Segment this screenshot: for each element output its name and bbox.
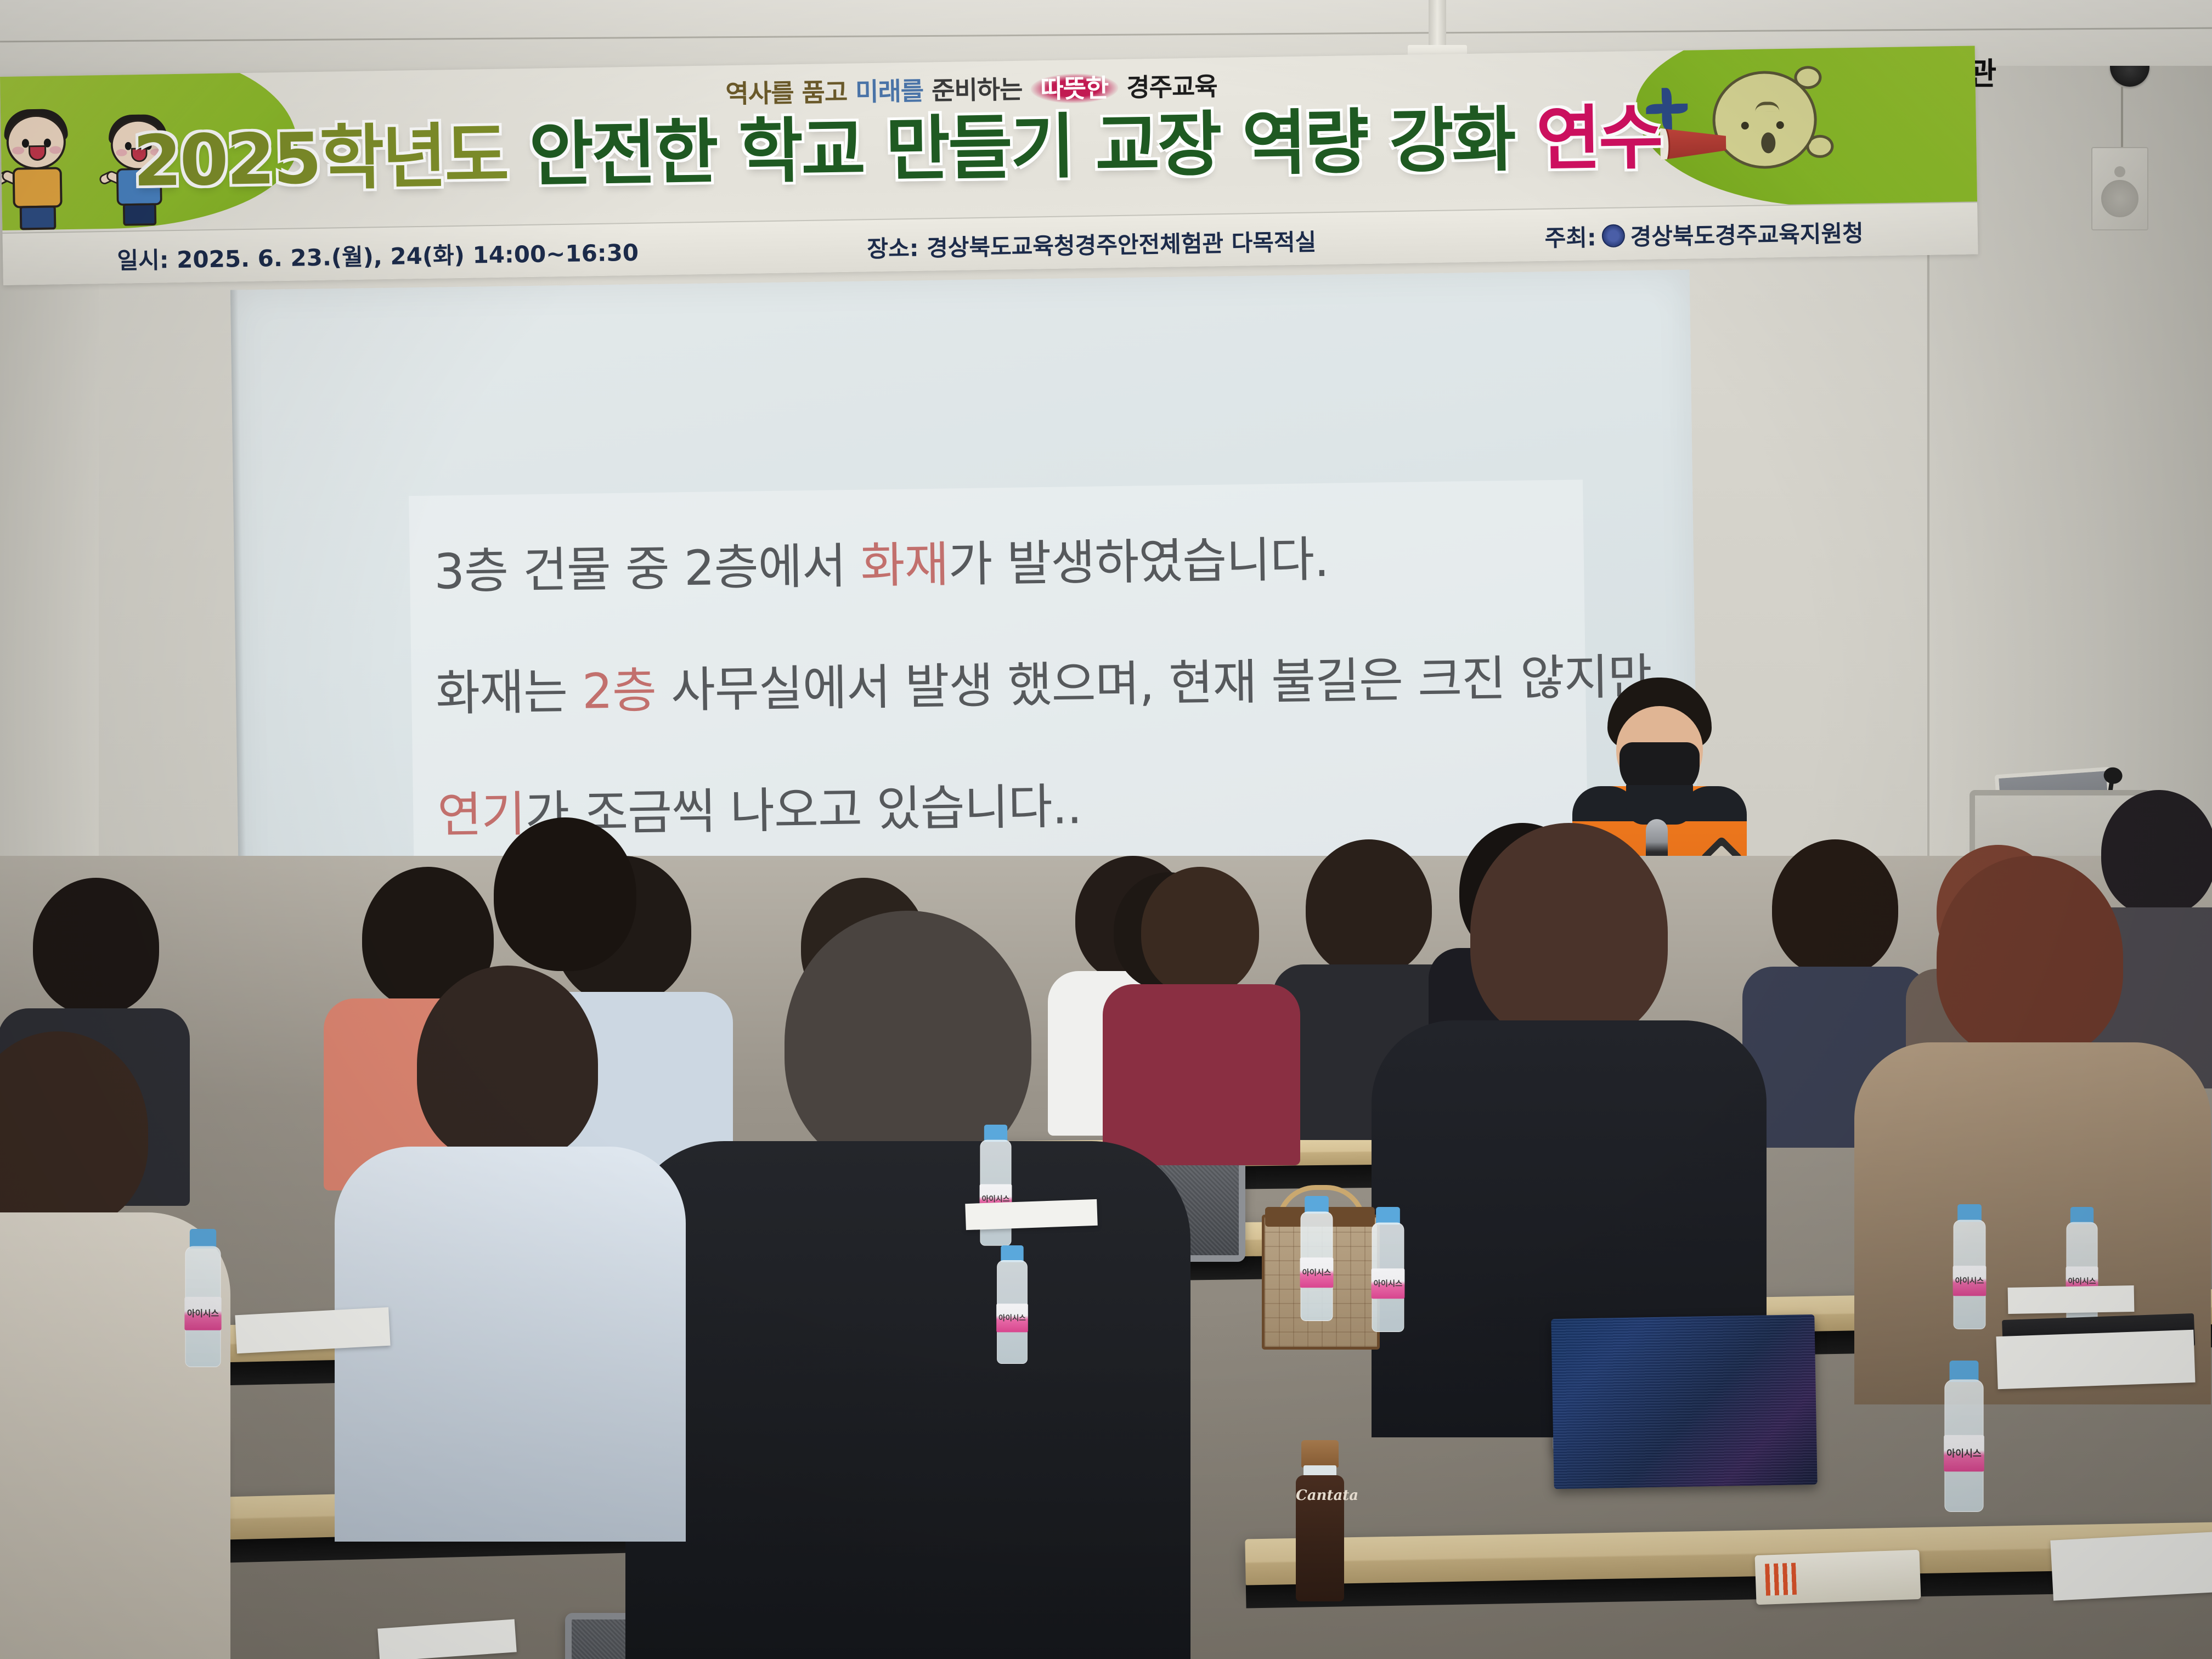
head bbox=[417, 966, 598, 1163]
bottle-cap bbox=[984, 1125, 1007, 1142]
slide-line-1: 3층 건물 중 2층에서 화재가 발생하였습니다. bbox=[433, 521, 1329, 603]
coffee-cap bbox=[1301, 1440, 1339, 1468]
slide-line-1-emphasis: 화재 bbox=[860, 536, 949, 594]
coffee-bottle: Cantata bbox=[1295, 1440, 1345, 1605]
coffee-body: Cantata bbox=[1296, 1475, 1344, 1601]
slide-line-2-b: 사무실에서 발생 했으며, 현재 불길은 크진 않지만 bbox=[656, 648, 1652, 719]
lecture-room-photo: 경상북도교육청 경주 안 전 체험관 bbox=[0, 0, 2212, 1659]
kid-legs bbox=[20, 205, 57, 230]
banner-title-highlight: 연수 bbox=[1536, 97, 1662, 180]
paper-sheet bbox=[2050, 1532, 2212, 1601]
speaker-woofer bbox=[2101, 180, 2138, 217]
bottle-cap bbox=[190, 1229, 216, 1249]
presenter-collar bbox=[1626, 785, 1693, 825]
head bbox=[1141, 867, 1259, 996]
bottle-label: 아이시스 bbox=[184, 1297, 221, 1330]
wall-speaker-icon bbox=[2091, 147, 2148, 230]
banner-host-name: 경상북도경주교육지원청 bbox=[1630, 215, 1864, 252]
kid-legs bbox=[123, 203, 156, 225]
paper-sheet bbox=[2008, 1285, 2135, 1314]
bottle-cap bbox=[1950, 1361, 1979, 1382]
slide-line-3-b: 가 조금씩 나오고 있습니다.. bbox=[524, 778, 1082, 842]
head bbox=[1306, 839, 1432, 977]
slide-line-3-emphasis: 연기 bbox=[437, 786, 526, 843]
bottle-label: 아이시스 bbox=[1300, 1257, 1334, 1288]
head bbox=[494, 817, 636, 971]
slide-line-2-a: 화재는 bbox=[435, 663, 582, 722]
bottle-label: 아이시스 bbox=[1953, 1266, 1987, 1296]
bottle-cap bbox=[2070, 1207, 2093, 1224]
event-banner: 역사를 품고 미래를 준비하는 따뜻한 경주교육 2025학년도 안전한 학교 … bbox=[0, 46, 1978, 285]
speaker-bracket bbox=[2121, 87, 2123, 148]
head bbox=[33, 878, 159, 1015]
government-seal-icon bbox=[1601, 224, 1625, 247]
speaker-tweeter bbox=[2114, 166, 2125, 177]
bottle-cap bbox=[1376, 1207, 1400, 1224]
torso bbox=[625, 1141, 1190, 1659]
paper-sheet bbox=[965, 1199, 1098, 1230]
slide-line-1-a: 3층 건물 중 2층에서 bbox=[433, 538, 861, 600]
paper-sheet bbox=[235, 1307, 390, 1354]
monitor-screen bbox=[1551, 1314, 1817, 1489]
head bbox=[1772, 839, 1898, 977]
bottle-cap bbox=[1305, 1196, 1329, 1214]
slide-line-2-emphasis: 2층 bbox=[582, 662, 656, 720]
head bbox=[2101, 790, 2212, 916]
snack-packets bbox=[1755, 1550, 1921, 1605]
bottle-cap bbox=[1001, 1245, 1023, 1262]
slide-line-1-b: 가 발생하였습니다. bbox=[948, 531, 1329, 593]
paper-sheet bbox=[1996, 1330, 2195, 1390]
bottle-label: 아이시스 bbox=[1372, 1268, 1405, 1299]
banner-place: 장소: 경상북도교육청경주안전체험관 다목적실 bbox=[867, 223, 1317, 264]
projector-pole bbox=[1429, 0, 1446, 47]
kid-shirt bbox=[13, 167, 63, 208]
bottle-label: 아이시스 bbox=[996, 1304, 1028, 1332]
bottle-cap bbox=[1957, 1204, 1982, 1222]
banner-host-label: 주최: bbox=[1544, 219, 1596, 253]
bottle-label: 아이시스 bbox=[1944, 1435, 1984, 1472]
banner-title-main: 안전한 학교 만들기 교장 역량 강화 bbox=[528, 99, 1515, 196]
banner-title: 2025학년도 안전한 학교 만들기 교장 역량 강화 연수 bbox=[132, 77, 1846, 206]
banner-title-year: 2025학년도 bbox=[132, 115, 507, 203]
head bbox=[1470, 823, 1668, 1042]
head bbox=[1937, 856, 2123, 1059]
slide-line-2: 화재는 2층 사무실에서 발생 했으며, 현재 불길은 크진 않지만 bbox=[435, 638, 1652, 725]
torso bbox=[1103, 984, 1300, 1165]
coffee-brand-label: Cantata bbox=[1296, 1487, 1344, 1504]
banner-host: 주최: 경상북도경주교육지원청 bbox=[1544, 215, 1864, 253]
